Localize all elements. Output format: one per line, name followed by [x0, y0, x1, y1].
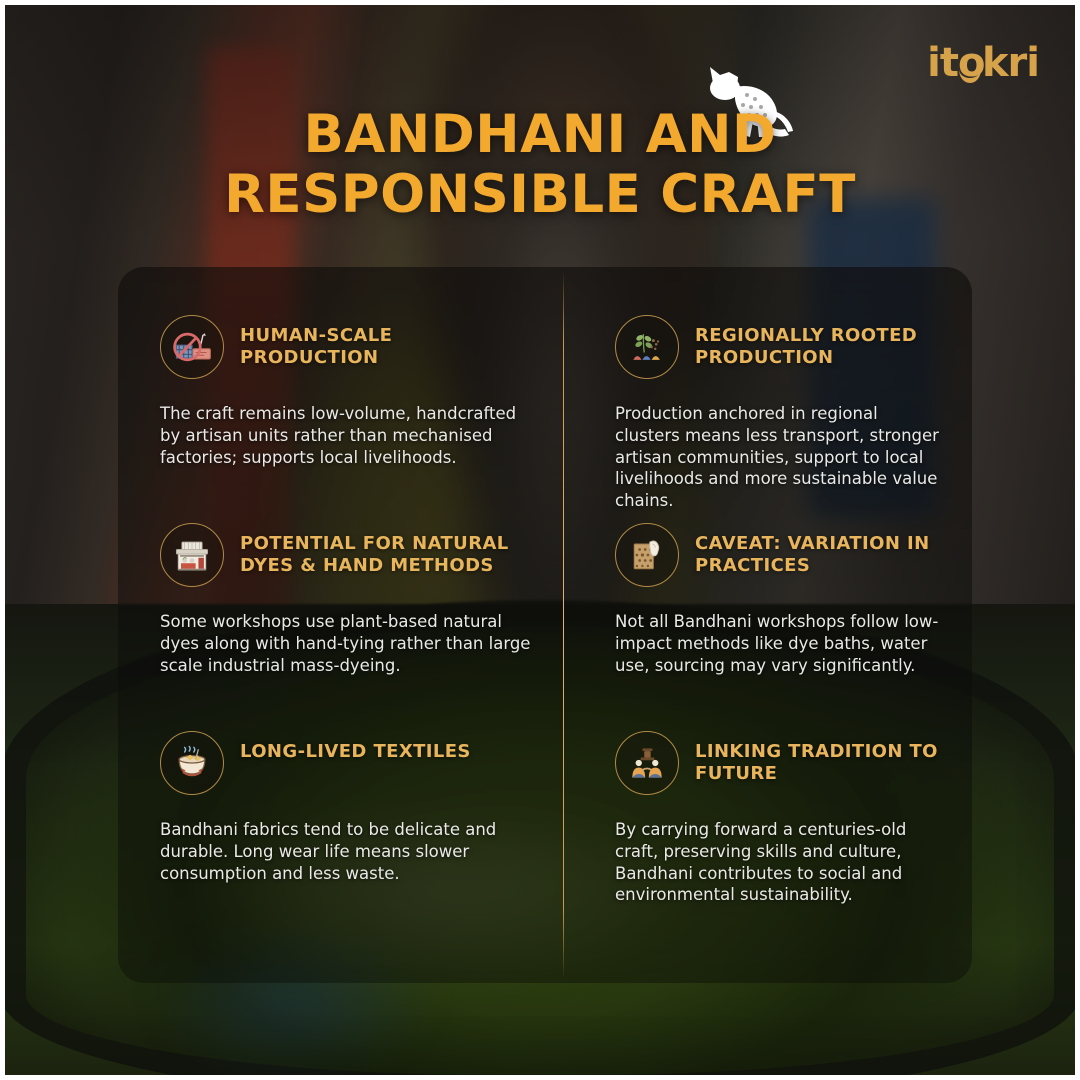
list-item: REGIONALLY ROOTED PRODUCTION Production …: [563, 315, 972, 523]
item-title: CAVEAT: VARIATION IN PRACTICES: [695, 523, 944, 577]
item-header: LONG-LIVED TEXTILES: [160, 731, 535, 795]
item-header: HUMAN-SCALE PRODUCTION: [160, 315, 535, 379]
item-title: POTENTIAL FOR NATURAL DYES & HAND METHOD…: [240, 523, 535, 577]
item-title: LONG-LIVED TEXTILES: [240, 731, 471, 763]
no-factory-icon: [160, 315, 224, 379]
item-body: Not all Bandhani workshops follow low-im…: [615, 611, 944, 676]
logo-basket-o-icon: o: [958, 43, 982, 83]
list-item: LINKING TRADITION TO FUTURE By carrying …: [563, 731, 972, 1031]
list-item: HUMAN-SCALE PRODUCTION The craft remains…: [118, 315, 563, 523]
logo-text-part-2: kri: [982, 40, 1039, 86]
itokri-logo[interactable]: itokri: [927, 43, 1039, 83]
natural-dye-plants-icon: [615, 315, 679, 379]
item-title: HUMAN-SCALE PRODUCTION: [240, 315, 535, 369]
item-header: POTENTIAL FOR NATURAL DYES & HAND METHOD…: [160, 523, 535, 587]
title-line-2: RESPONSIBLE CRAFT: [5, 165, 1075, 225]
item-body: Production anchored in regional clusters…: [615, 403, 944, 512]
steaming-dye-pot-icon: [160, 731, 224, 795]
item-body: Bandhani fabrics tend to be delicate and…: [160, 819, 535, 884]
item-title: REGIONALLY ROOTED PRODUCTION: [695, 315, 944, 369]
item-header: LINKING TRADITION TO FUTURE: [615, 731, 944, 795]
item-header: CAVEAT: VARIATION IN PRACTICES: [615, 523, 944, 587]
two-artisans-icon: [615, 731, 679, 795]
item-title: LINKING TRADITION TO FUTURE: [695, 731, 944, 785]
title-line-1: BANDHANI AND: [5, 105, 1075, 165]
page-title: BANDHANI AND RESPONSIBLE CRAFT: [5, 105, 1075, 226]
points-grid: HUMAN-SCALE PRODUCTION The craft remains…: [118, 267, 972, 983]
infographic-poster: itokri BANDHANI AND RESPONSIBLE CRAFT: [0, 0, 1080, 1080]
list-item: LONG-LIVED TEXTILES Bandhani fabrics ten…: [118, 731, 563, 1031]
item-header: REGIONALLY ROOTED PRODUCTION: [615, 315, 944, 379]
hand-holding-fabric-swatch-icon: [615, 523, 679, 587]
item-body: By carrying forward a centuries-old craf…: [615, 819, 944, 906]
workshop-building-icon: [160, 523, 224, 587]
list-item: POTENTIAL FOR NATURAL DYES & HAND METHOD…: [118, 523, 563, 731]
poster-header: itokri BANDHANI AND RESPONSIBLE CRAFT: [5, 5, 1075, 255]
logo-text-part-1: it: [927, 40, 958, 86]
item-body: The craft remains low-volume, handcrafte…: [160, 403, 535, 468]
list-item: CAVEAT: VARIATION IN PRACTICES Not all B…: [563, 523, 972, 731]
item-body: Some workshops use plant-based natural d…: [160, 611, 535, 676]
